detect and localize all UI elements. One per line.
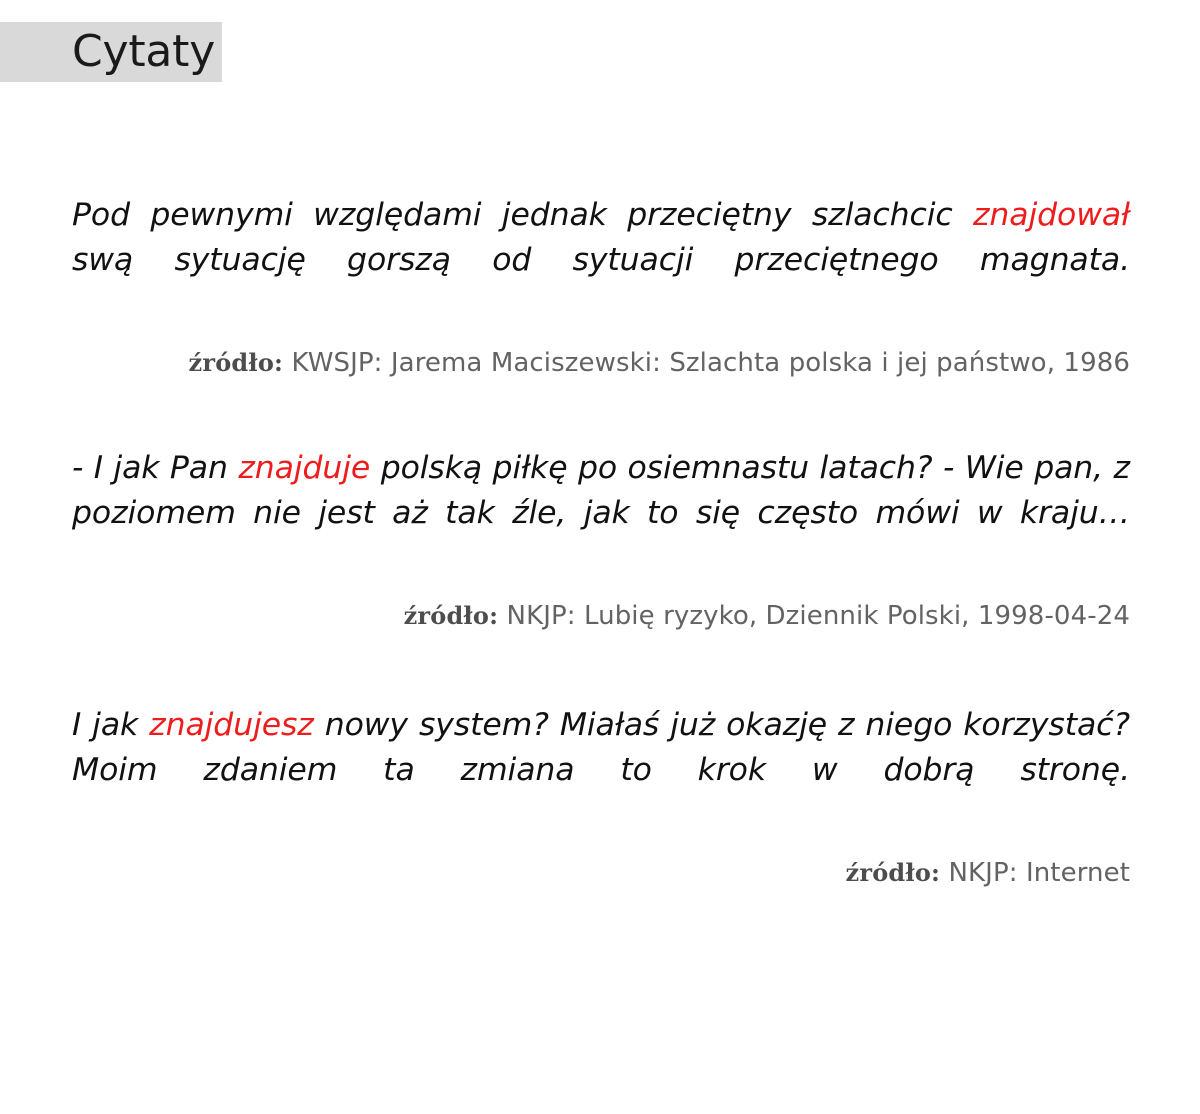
- spacer-1: [72, 410, 1130, 446]
- quote-entry-2: - I jak Pan znajduje polską piłkę po osi…: [72, 446, 1130, 635]
- quote-text-1: Pod pewnymi względami jednak przeciętny …: [72, 193, 1130, 328]
- quote-1-after: swą sytuację gorszą od sytuacji przecięt…: [72, 242, 1130, 278]
- quote-2-source: źródło: NKJP: Lubię ryzyko, Dziennik Pol…: [72, 597, 1130, 635]
- quote-1-before: Pod pewnymi względami jednak przeciętny …: [72, 197, 973, 233]
- source-value: NKJP: Lubię ryzyko, Dziennik Polski, 199…: [507, 601, 1130, 631]
- quote-1-source: źródło: KWSJP: Jarema Maciszewski: Szlac…: [72, 344, 1130, 382]
- quotes-list: Pod pewnymi względami jednak przeciętny …: [72, 193, 1130, 892]
- quote-3-source: źródło: NKJP: Internet: [72, 854, 1130, 892]
- quote-1-highlight: znajdował: [973, 197, 1130, 233]
- source-label: źródło:: [189, 348, 284, 377]
- quote-text-3: I jak znajdujesz nowy system? Miałaś już…: [72, 703, 1130, 838]
- quote-3-highlight: znajdujesz: [149, 707, 314, 743]
- spacer-2: [72, 663, 1130, 703]
- quote-2-before: - I jak Pan: [72, 450, 238, 486]
- source-label: źródło:: [846, 858, 941, 887]
- quote-2-highlight: znajduje: [238, 450, 370, 486]
- source-value: NKJP: Internet: [948, 858, 1130, 888]
- source-value: KWSJP: Jarema Maciszewski: Szlachta pols…: [291, 348, 1130, 378]
- quote-entry-3: I jak znajdujesz nowy system? Miałaś już…: [72, 703, 1130, 892]
- page-title: Cytaty: [72, 22, 215, 82]
- quote-text-2: - I jak Pan znajduje polską piłkę po osi…: [72, 446, 1130, 581]
- source-label: źródło:: [404, 601, 499, 630]
- quote-3-before: I jak: [72, 707, 149, 743]
- quote-entry-1: Pod pewnymi względami jednak przeciętny …: [72, 193, 1130, 382]
